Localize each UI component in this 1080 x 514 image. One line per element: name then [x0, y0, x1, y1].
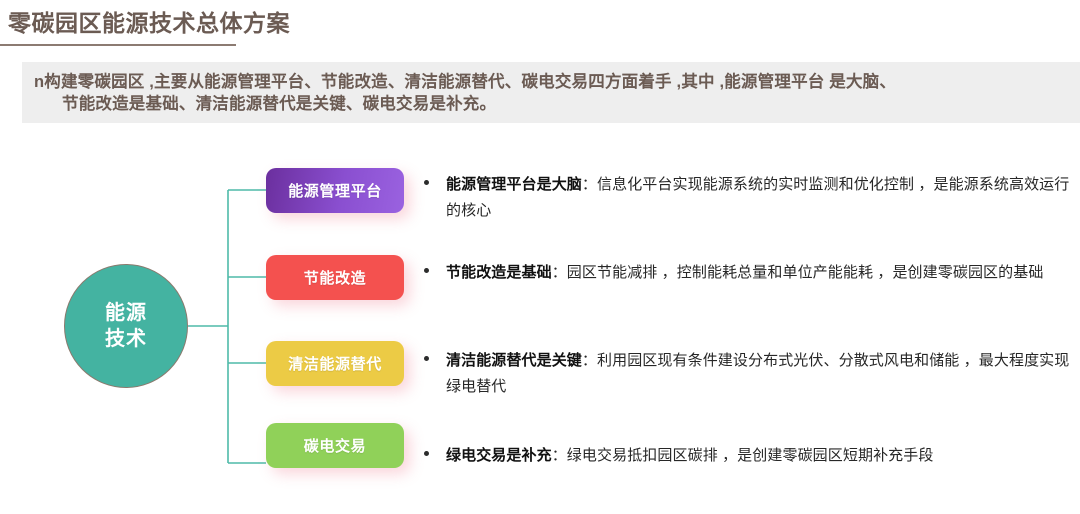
bullet-body: ：绿电交易抵扣园区碳排 ，是创建零碳园区短期补充手段	[552, 447, 934, 464]
node-box-label: 节能改造	[304, 267, 366, 288]
energy-technology-diagram: 能源 技术 能源管理平台 节能改造 清洁能源替代 碳电交易 能源管理平台是大脑：…	[0, 140, 1080, 514]
node-box-label: 清洁能源替代	[288, 353, 382, 374]
bullet-lead: 能源管理平台是大脑	[446, 176, 582, 193]
bullet-item: 清洁能源替代是关键：利用园区现有条件建设分布式光伏、分散式风电和储能 ，最大程度…	[424, 348, 1072, 400]
bullet-text: 清洁能源替代是关键：利用园区现有条件建设分布式光伏、分散式风电和储能 ，最大程度…	[446, 348, 1072, 400]
node-box-energy-management-platform[interactable]: 能源管理平台	[266, 168, 404, 213]
bullet-dot-icon	[424, 180, 429, 185]
bullet-lead: 节能改造是基础	[446, 264, 552, 281]
summary-banner: n构建零碳园区 ,主要从能源管理平台、节能改造、清洁能源替代、碳电交易四方面着手…	[22, 62, 1080, 123]
bullet-item: 节能改造是基础：园区节能减排 ，控制能耗总量和单位产能能耗 ，是创建零碳园区的基…	[424, 260, 1072, 286]
bullet-item: 能源管理平台是大脑：信息化平台实现能源系统的实时监测和优化控制 ，是能源系统高效…	[424, 172, 1072, 224]
node-box-energy-saving-retrofit[interactable]: 节能改造	[266, 255, 404, 300]
bullet-item: 绿电交易是补充：绿电交易抵扣园区碳排 ，是创建零碳园区短期补充手段	[424, 443, 1072, 469]
bullet-dot-icon	[424, 451, 429, 456]
bullet-text: 绿电交易是补充：绿电交易抵扣园区碳排 ，是创建零碳园区短期补充手段	[446, 443, 1072, 469]
node-box-label: 碳电交易	[304, 435, 366, 456]
title-underline-rule	[0, 44, 236, 46]
node-box-carbon-power-trading[interactable]: 碳电交易	[266, 423, 404, 468]
bullet-text: 节能改造是基础：园区节能减排 ，控制能耗总量和单位产能能耗 ，是创建零碳园区的基…	[446, 260, 1072, 286]
node-box-label: 能源管理平台	[288, 180, 382, 201]
bullet-lead: 绿电交易是补充	[446, 447, 552, 464]
bullet-text: 能源管理平台是大脑：信息化平台实现能源系统的实时监测和优化控制 ，是能源系统高效…	[446, 172, 1072, 224]
root-node-label-line2: 技术	[105, 326, 147, 352]
summary-line-1: n构建零碳园区 ,主要从能源管理平台、节能改造、清洁能源替代、碳电交易四方面着手…	[34, 72, 896, 92]
summary-line-2: 节能改造是基础、清洁能源替代是关键、碳电交易是补充。	[62, 94, 496, 114]
bullet-lead: 清洁能源替代是关键	[446, 352, 582, 369]
node-box-clean-energy-substitution[interactable]: 清洁能源替代	[266, 341, 404, 386]
bullet-body: ：园区节能减排 ，控制能耗总量和单位产能能耗 ，是创建零碳园区的基础	[552, 264, 1044, 281]
title-block: 零碳园区能源技术总体方案	[0, 8, 1080, 54]
page-title: 零碳园区能源技术总体方案	[8, 8, 290, 38]
root-node-energy-technology[interactable]: 能源 技术	[64, 264, 188, 388]
root-node-label-line1: 能源	[105, 300, 147, 326]
bullet-dot-icon	[424, 356, 429, 361]
bullet-dot-icon	[424, 268, 429, 273]
